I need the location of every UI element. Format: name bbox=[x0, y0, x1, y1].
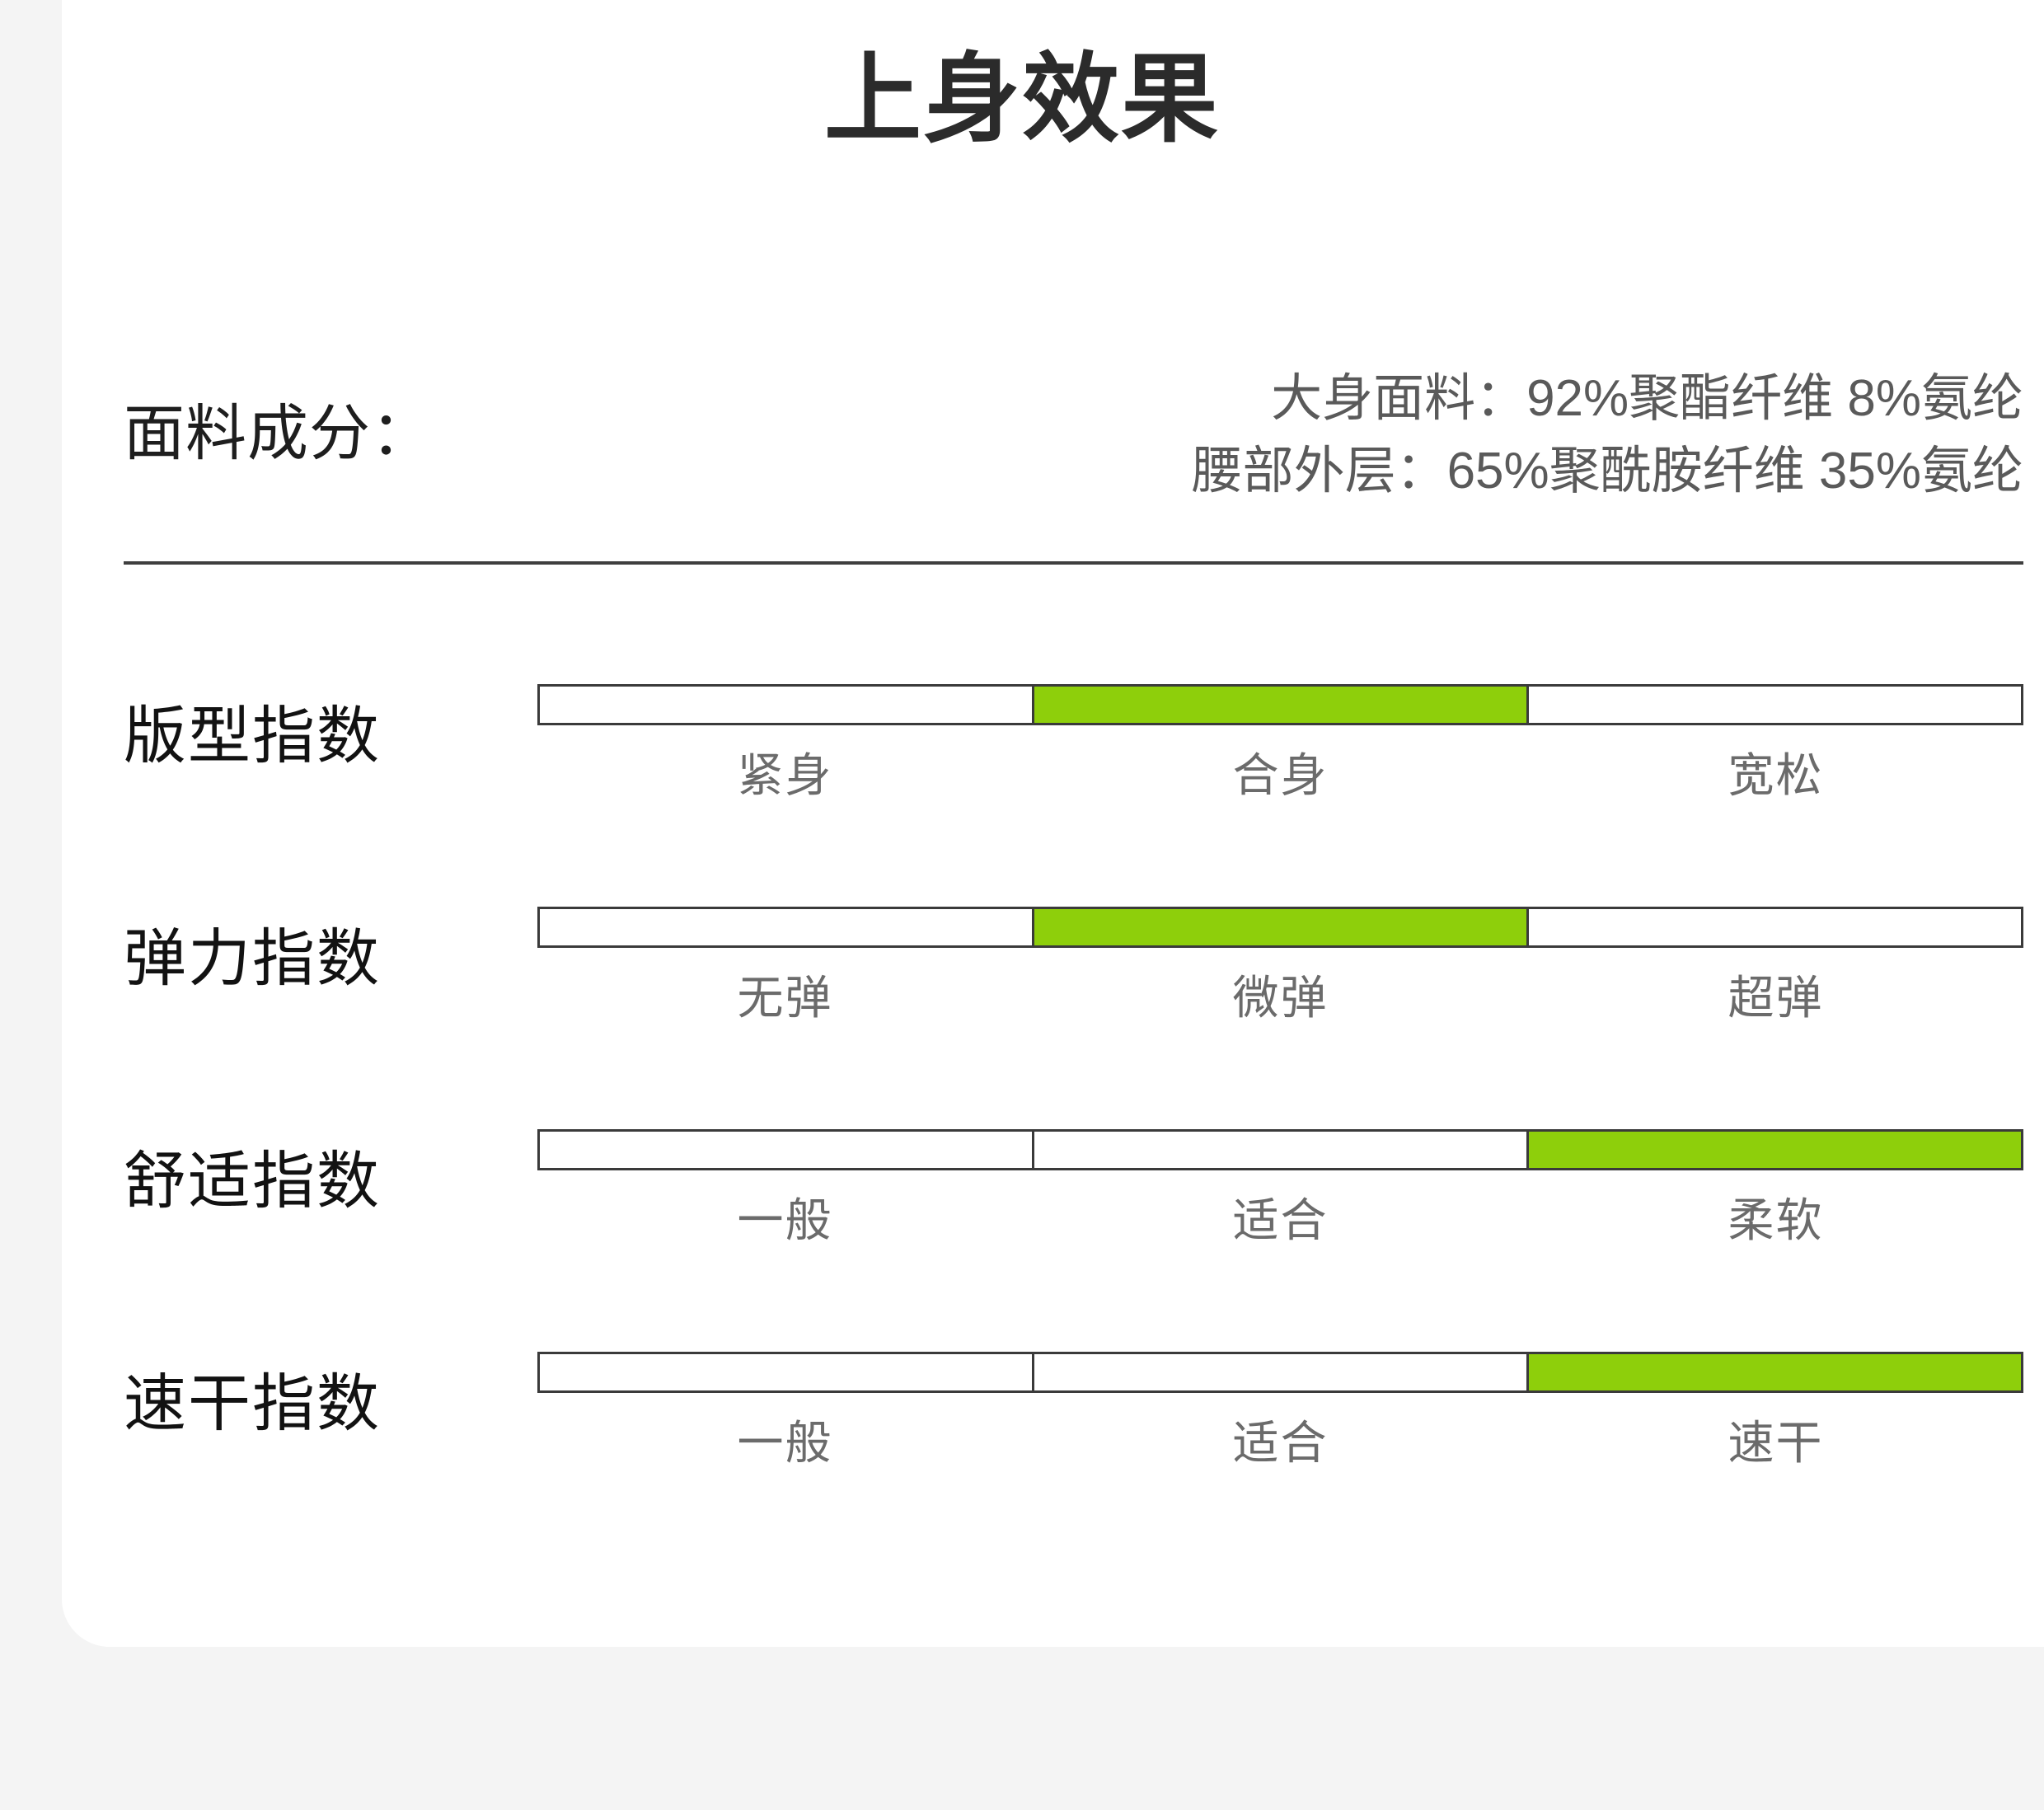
index-bar-elasticity bbox=[537, 907, 2023, 948]
tick-label-comfort-3: 柔软 bbox=[1528, 1192, 2023, 1250]
index-row-quickdry: 速干指数 一般 适合 速干 bbox=[0, 1352, 2044, 1574]
product-detail-page: 上身效果 面料成分： 大身面料：92%聚酯纤维 8%氨纶 腰部外层：65%聚酰胺… bbox=[0, 0, 2044, 1810]
bar-segment-fit-3[interactable] bbox=[1529, 687, 2021, 723]
index-bar-wrap-elasticity: 无弹 微弹 超弹 bbox=[537, 907, 2023, 1027]
index-bar-wrap-comfort: 一般 适合 柔软 bbox=[537, 1129, 2023, 1250]
bar-segment-fit-2[interactable] bbox=[1034, 687, 1529, 723]
page-title: 上身效果 bbox=[0, 40, 2044, 162]
index-ticks-elasticity: 无弹 微弹 超弹 bbox=[537, 969, 2023, 1027]
bar-segment-comfort-2[interactable] bbox=[1034, 1132, 1529, 1168]
index-label-elasticity: 弹力指数 bbox=[124, 921, 519, 996]
fabric-composition-line-2: 腰部外层：65%聚酰胺纤维 35%氨纶 bbox=[1192, 435, 2023, 508]
bar-segment-elasticity-2[interactable] bbox=[1034, 909, 1529, 945]
fabric-composition-values: 大身面料：92%聚酯纤维 8%氨纶 腰部外层：65%聚酰胺纤维 35%氨纶 bbox=[1192, 363, 2023, 508]
bar-segment-fit-1[interactable] bbox=[540, 687, 1034, 723]
tick-label-comfort-2: 适合 bbox=[1033, 1192, 1528, 1250]
fabric-composition-line-1: 大身面料：92%聚酯纤维 8%氨纶 bbox=[1192, 363, 2023, 435]
index-bar-wrap-fit: 紧身 合身 宽松 bbox=[537, 684, 2023, 804]
bar-segment-comfort-3[interactable] bbox=[1529, 1132, 2021, 1168]
fabric-composition-section: 面料成分： 大身面料：92%聚酯纤维 8%氨纶 腰部外层：65%聚酰胺纤维 35… bbox=[124, 363, 2023, 511]
tick-label-quickdry-3: 速干 bbox=[1528, 1414, 2023, 1472]
tick-label-comfort-1: 一般 bbox=[537, 1192, 1033, 1250]
index-bar-quickdry bbox=[537, 1352, 2023, 1393]
tick-label-fit-1: 紧身 bbox=[537, 747, 1033, 804]
tick-label-elasticity-1: 无弹 bbox=[537, 969, 1033, 1027]
bar-segment-comfort-1[interactable] bbox=[540, 1132, 1034, 1168]
tick-label-quickdry-1: 一般 bbox=[537, 1414, 1033, 1472]
index-ticks-quickdry: 一般 适合 速干 bbox=[537, 1414, 2023, 1472]
tick-label-fit-3: 宽松 bbox=[1528, 747, 2023, 804]
index-row-comfort: 舒适指数 一般 适合 柔软 bbox=[0, 1129, 2044, 1352]
bar-segment-elasticity-1[interactable] bbox=[540, 909, 1034, 945]
fabric-composition-label: 面料成分： bbox=[124, 397, 433, 471]
bar-segment-quickdry-3[interactable] bbox=[1529, 1354, 2021, 1390]
index-bar-fit bbox=[537, 684, 2023, 725]
index-label-fit: 版型指数 bbox=[124, 699, 519, 774]
bar-segment-quickdry-2[interactable] bbox=[1034, 1354, 1529, 1390]
tick-label-fit-2: 合身 bbox=[1033, 747, 1528, 804]
tick-label-elasticity-3: 超弹 bbox=[1528, 969, 2023, 1027]
index-label-quickdry: 速干指数 bbox=[124, 1367, 519, 1442]
tick-label-quickdry-2: 适合 bbox=[1033, 1414, 1528, 1472]
bar-segment-elasticity-3[interactable] bbox=[1529, 909, 2021, 945]
index-label-comfort: 舒适指数 bbox=[124, 1144, 519, 1219]
index-row-fit: 版型指数 紧身 合身 宽松 bbox=[0, 684, 2044, 907]
index-ticks-comfort: 一般 适合 柔软 bbox=[537, 1192, 2023, 1250]
index-row-elasticity: 弹力指数 无弹 微弹 超弹 bbox=[0, 907, 2044, 1129]
index-bar-comfort bbox=[537, 1129, 2023, 1170]
section-divider bbox=[124, 561, 2023, 565]
bar-segment-quickdry-1[interactable] bbox=[540, 1354, 1034, 1390]
tick-label-elasticity-2: 微弹 bbox=[1033, 969, 1528, 1027]
index-bar-wrap-quickdry: 一般 适合 速干 bbox=[537, 1352, 2023, 1472]
index-ticks-fit: 紧身 合身 宽松 bbox=[537, 747, 2023, 804]
